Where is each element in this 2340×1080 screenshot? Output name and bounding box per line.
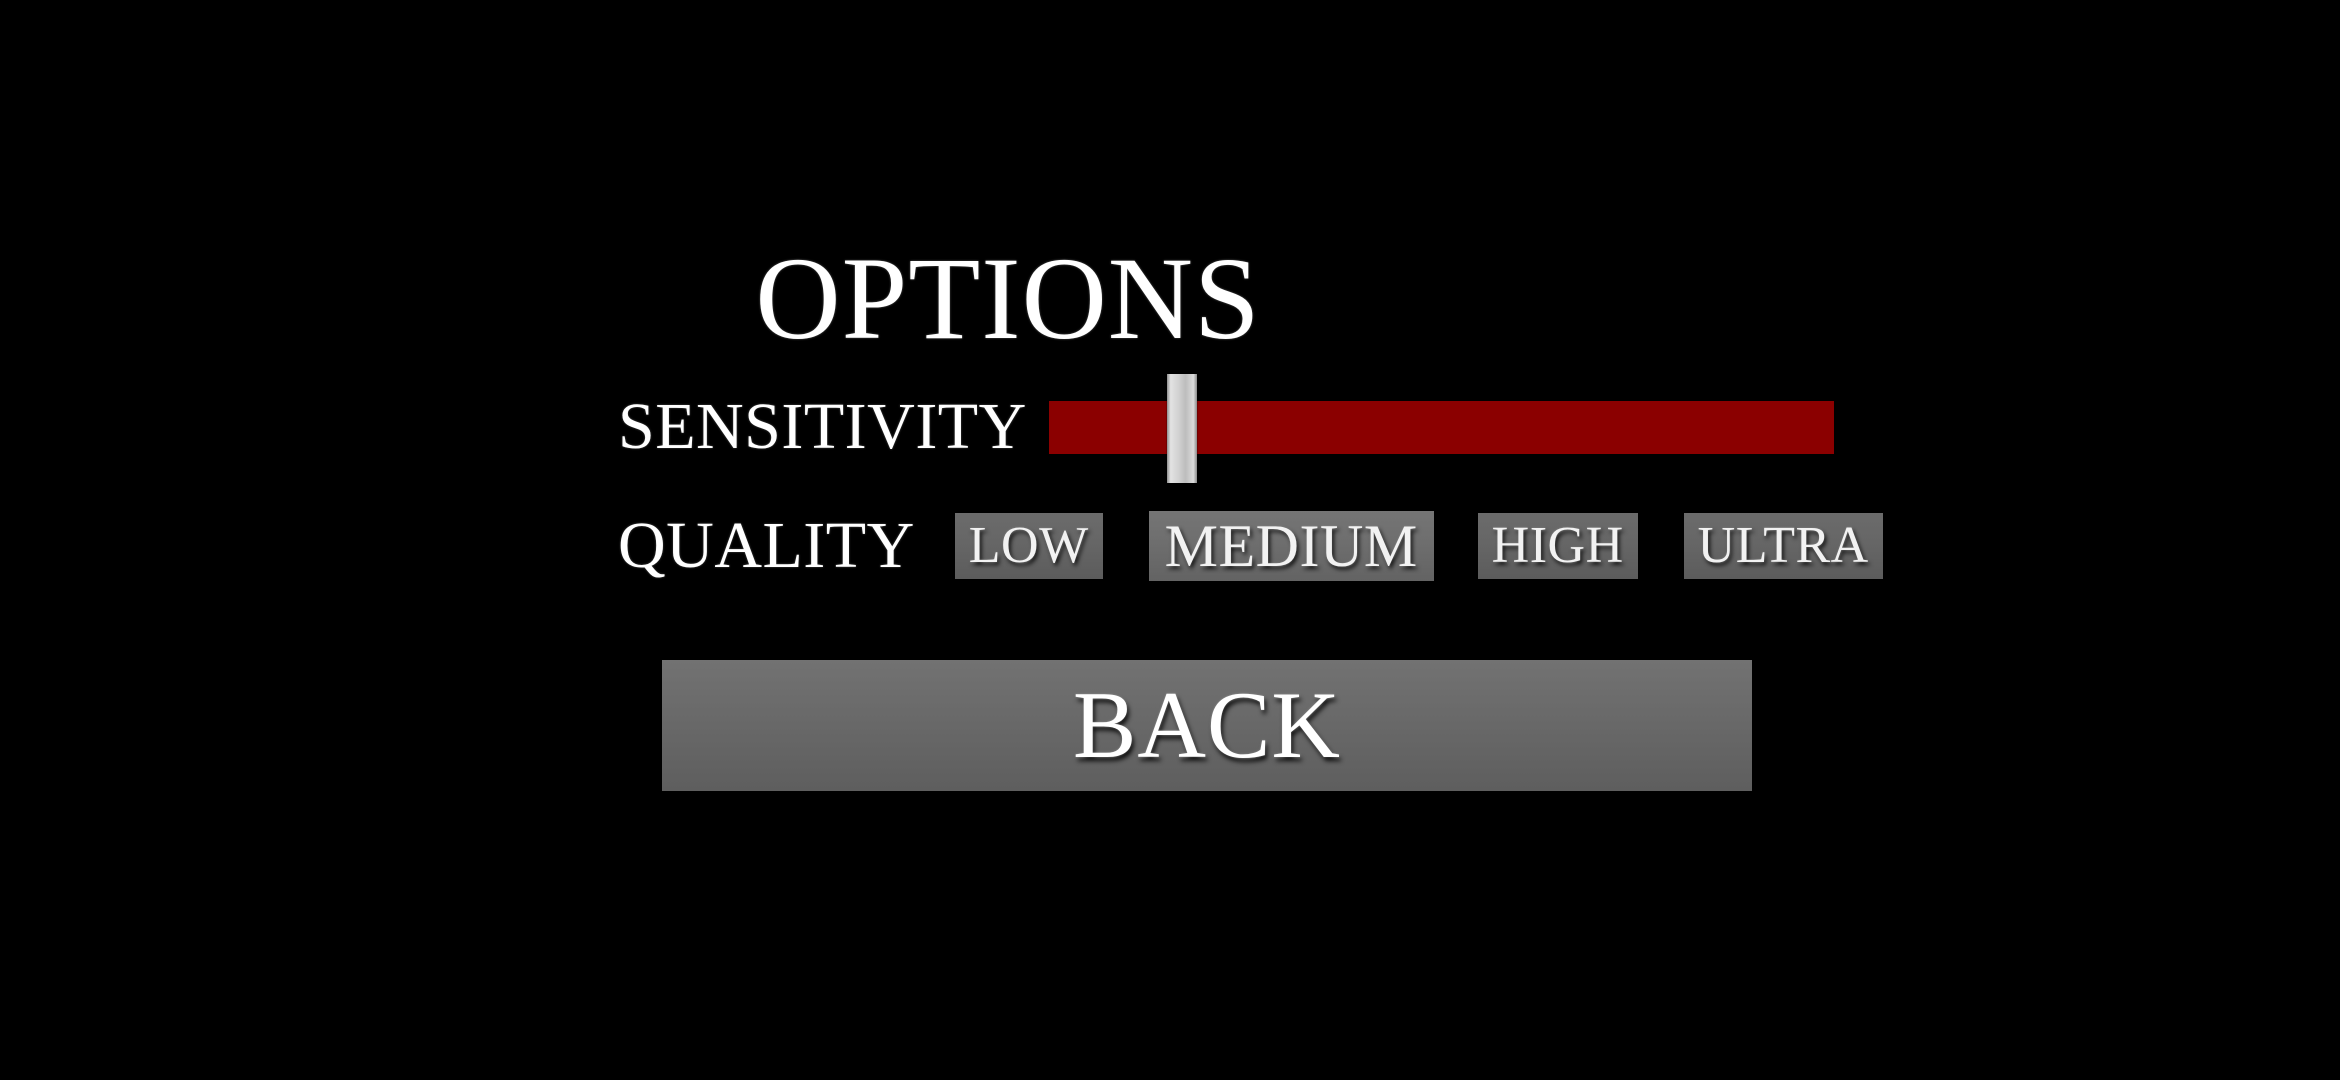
quality-options-group: LOW MEDIUM HIGH ULTRA <box>955 511 1883 581</box>
sensitivity-slider-fill <box>1049 401 1182 454</box>
sensitivity-row: SENSITIVITY <box>618 398 1818 456</box>
page-title: OPTIONS <box>0 240 2340 358</box>
sensitivity-label: SENSITIVITY <box>618 394 1027 460</box>
back-button-label: BACK <box>1073 678 1341 773</box>
quality-option-high[interactable]: HIGH <box>1478 513 1638 579</box>
options-menu-screen: OPTIONS SENSITIVITY QUALITY LOW MEDIUM H… <box>0 0 2340 1080</box>
quality-option-low[interactable]: LOW <box>955 513 1103 579</box>
quality-option-ultra[interactable]: ULTRA <box>1684 513 1883 579</box>
page-title-text: OPTIONS <box>755 240 1260 358</box>
sensitivity-slider-handle[interactable] <box>1167 374 1197 483</box>
quality-row: QUALITY LOW MEDIUM HIGH ULTRA <box>618 508 1883 584</box>
sensitivity-slider[interactable] <box>1049 401 1834 454</box>
back-button[interactable]: BACK <box>662 660 1752 791</box>
quality-option-medium[interactable]: MEDIUM <box>1149 511 1434 581</box>
quality-label: QUALITY <box>618 513 915 579</box>
